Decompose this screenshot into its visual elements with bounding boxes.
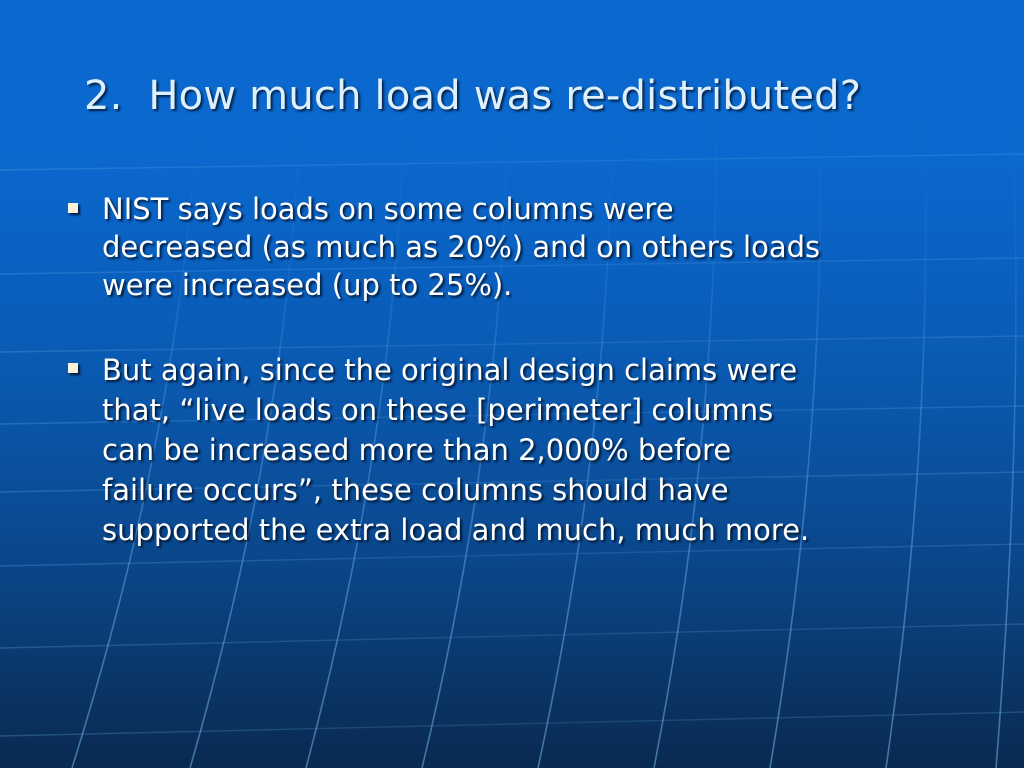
bullet-text: But again, since the original design cla… (102, 350, 990, 550)
bullet-text: NIST says loads on some columns were dec… (102, 190, 990, 304)
slide-title: 2. How much load was re-distributed? (84, 72, 984, 120)
list-item: But again, since the original design cla… (60, 350, 990, 550)
square-bullet-icon (68, 363, 78, 373)
square-bullet-icon (68, 203, 78, 213)
slide-body: NIST says loads on some columns were dec… (60, 190, 990, 550)
presentation-slide: 2. How much load was re-distributed? NIS… (0, 0, 1024, 768)
list-item: NIST says loads on some columns were dec… (60, 190, 990, 304)
